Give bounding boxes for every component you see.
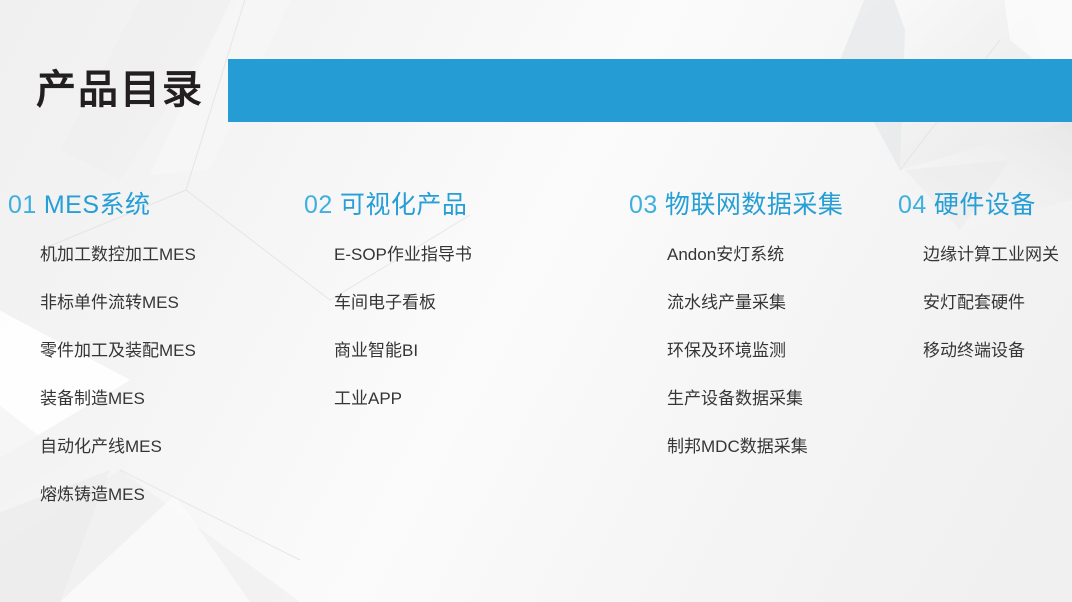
list-item[interactable]: 车间电子看板 (304, 292, 608, 313)
list-item[interactable]: 移动终端设备 (898, 340, 1072, 361)
list-item[interactable]: 工业APP (304, 388, 608, 409)
list-item[interactable]: 环保及环境监测 (629, 340, 884, 361)
column-title-01: MES系统 (44, 191, 151, 219)
list-item[interactable]: 非标单件流转MES (8, 292, 288, 313)
catalog-column-02: 02可视化产品 E-SOP作业指导书 车间电子看板 商业智能BI 工业APP (288, 188, 608, 436)
column-item-list-02: E-SOP作业指导书 车间电子看板 商业智能BI 工业APP (304, 244, 608, 409)
list-item[interactable]: 自动化产线MES (8, 436, 288, 457)
column-number-02: 02 (304, 191, 333, 219)
list-item[interactable]: 安灯配套硬件 (898, 292, 1072, 313)
list-item[interactable]: 边缘计算工业网关 (898, 244, 1072, 265)
header-accent-bar (228, 59, 1072, 122)
column-heading-01: 01MES系统 (8, 188, 288, 222)
column-heading-02: 02可视化产品 (304, 188, 608, 222)
column-number-01: 01 (8, 191, 37, 219)
list-item[interactable]: 商业智能BI (304, 340, 608, 361)
list-item[interactable]: 熔炼铸造MES (8, 484, 288, 505)
catalog-column-01: 01MES系统 机加工数控加工MES 非标单件流转MES 零件加工及装配MES … (0, 188, 288, 532)
list-item[interactable]: 流水线产量采集 (629, 292, 884, 313)
list-item[interactable]: 机加工数控加工MES (8, 244, 288, 265)
page-title: 产品目录 (36, 62, 204, 118)
slide-canvas: 产品目录 01MES系统 机加工数控加工MES 非标单件流转MES 零件加工及装… (0, 0, 1072, 602)
column-title-03: 物联网数据采集 (665, 191, 844, 219)
list-item[interactable]: 生产设备数据采集 (629, 388, 884, 409)
column-number-04: 04 (898, 191, 927, 219)
column-item-list-03: Andon安灯系统 流水线产量采集 环保及环境监测 生产设备数据采集 制邦MDC… (629, 244, 884, 457)
column-title-04: 硬件设备 (934, 191, 1036, 219)
list-item[interactable]: 装备制造MES (8, 388, 288, 409)
list-item[interactable]: 零件加工及装配MES (8, 340, 288, 361)
catalog-column-04: 04硬件设备 边缘计算工业网关 安灯配套硬件 移动终端设备 (884, 188, 1072, 388)
column-title-02: 可视化产品 (340, 191, 468, 219)
catalog-columns: 01MES系统 机加工数控加工MES 非标单件流转MES 零件加工及装配MES … (0, 188, 1072, 532)
slide-header: 产品目录 (0, 0, 1072, 170)
list-item[interactable]: E-SOP作业指导书 (304, 244, 608, 265)
list-item[interactable]: 制邦MDC数据采集 (629, 436, 884, 457)
column-heading-03: 03物联网数据采集 (629, 188, 884, 222)
list-item[interactable]: Andon安灯系统 (629, 244, 884, 265)
column-item-list-04: 边缘计算工业网关 安灯配套硬件 移动终端设备 (898, 244, 1072, 361)
column-number-03: 03 (629, 191, 658, 219)
column-heading-04: 04硬件设备 (898, 188, 1072, 222)
column-item-list-01: 机加工数控加工MES 非标单件流转MES 零件加工及装配MES 装备制造MES … (8, 244, 288, 505)
catalog-column-03: 03物联网数据采集 Andon安灯系统 流水线产量采集 环保及环境监测 生产设备… (608, 188, 884, 484)
